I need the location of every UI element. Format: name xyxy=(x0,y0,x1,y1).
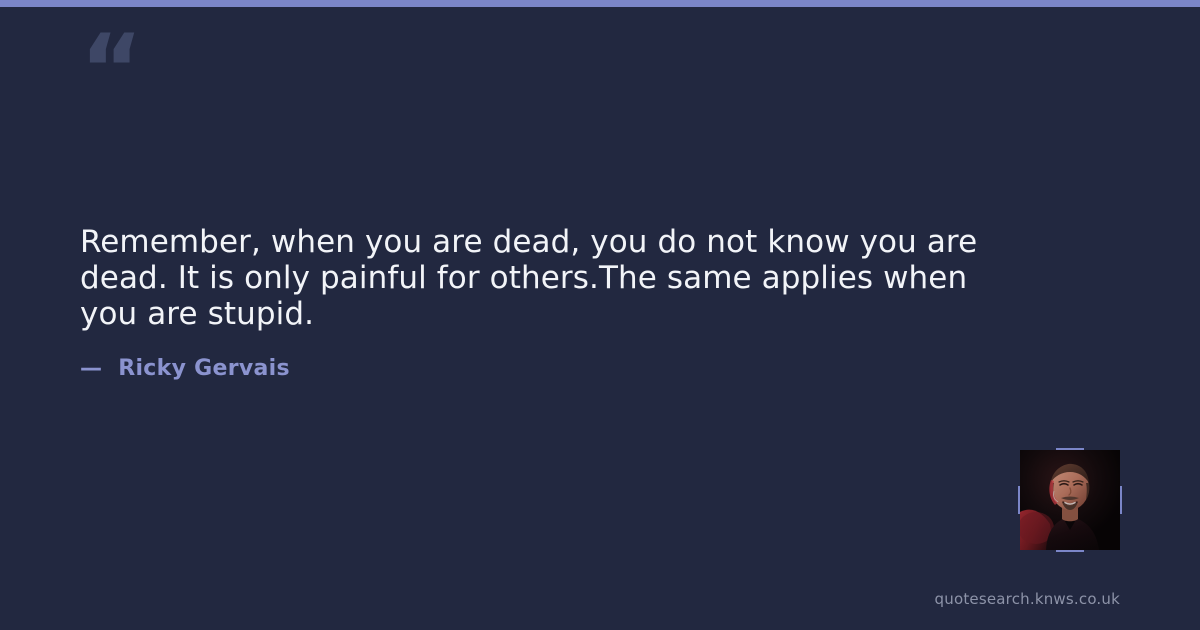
quote-block: Remember, when you are dead, you do not … xyxy=(80,224,980,332)
author-photo-image xyxy=(1020,450,1120,550)
photo-edge-tick-left xyxy=(1018,486,1020,514)
quote-card: “ Remember, when you are dead, you do no… xyxy=(0,0,1200,630)
photo-edge-tick-bottom xyxy=(1056,550,1084,552)
top-accent-bar xyxy=(0,0,1200,7)
quote-text: Remember, when you are dead, you do not … xyxy=(80,224,980,332)
site-watermark: quotesearch.knws.co.uk xyxy=(935,590,1120,608)
attribution-text: — Ricky Gervais xyxy=(80,356,290,381)
author-photo xyxy=(1020,450,1120,550)
opening-quote-icon: “ xyxy=(80,22,141,118)
photo-edge-tick-right xyxy=(1120,486,1122,514)
photo-edge-tick-top xyxy=(1056,448,1084,450)
attribution: — Ricky Gervais xyxy=(80,356,290,381)
